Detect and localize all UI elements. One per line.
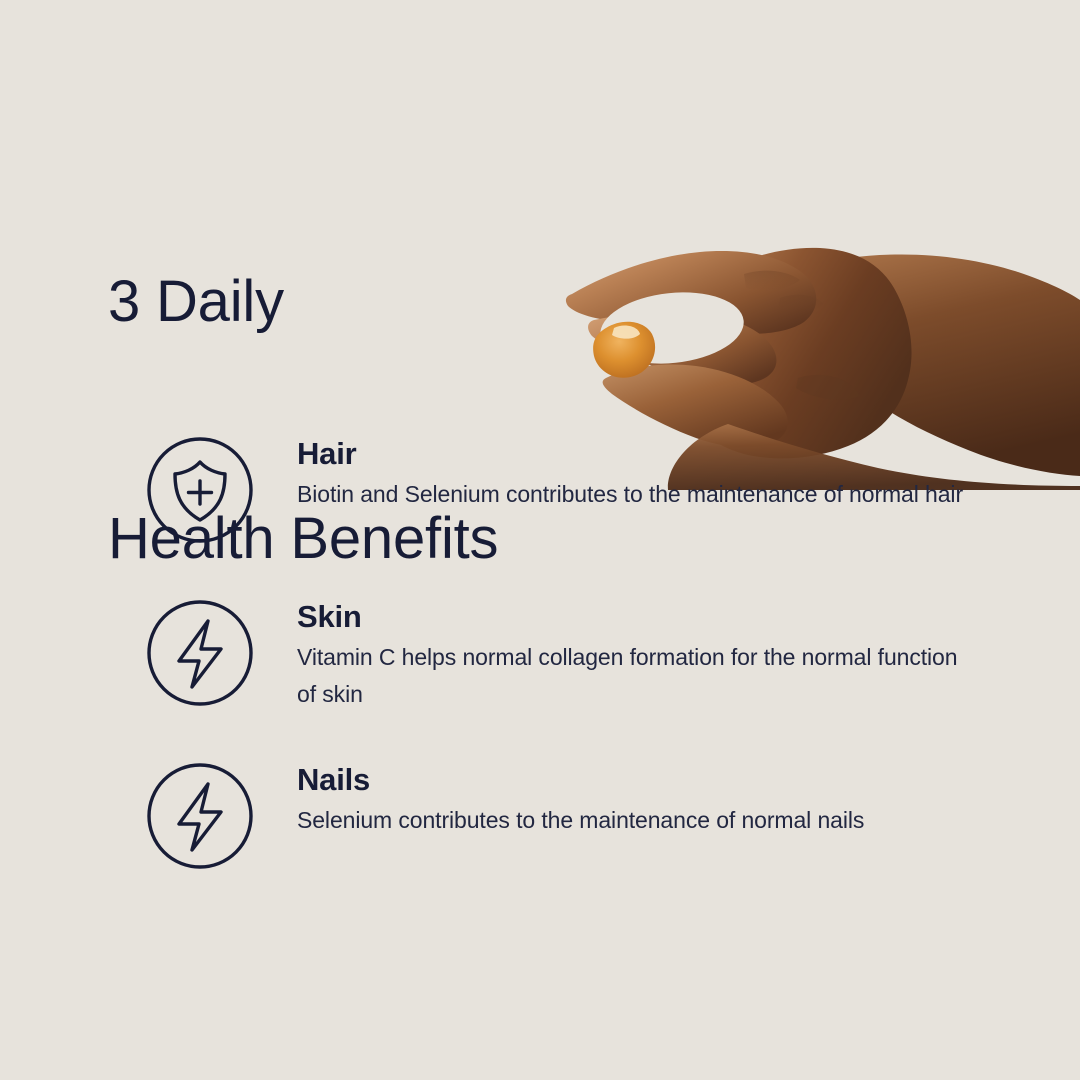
lightning-bolt-icon xyxy=(146,762,254,870)
page-title: 3 Daily Health Benefits xyxy=(108,104,498,736)
benefit-description: Selenium contributes to the maintenance … xyxy=(297,802,977,839)
benefit-text: Nails Selenium contributes to the mainte… xyxy=(254,760,1006,839)
infographic-canvas: 3 Daily Health Benefits xyxy=(0,0,1080,1080)
benefit-row: Nails Selenium contributes to the mainte… xyxy=(146,760,1006,923)
benefit-title: Nails xyxy=(297,761,1006,799)
page-title-line-2: Health Benefits xyxy=(108,499,498,578)
page-title-line-1: 3 Daily xyxy=(108,262,498,341)
